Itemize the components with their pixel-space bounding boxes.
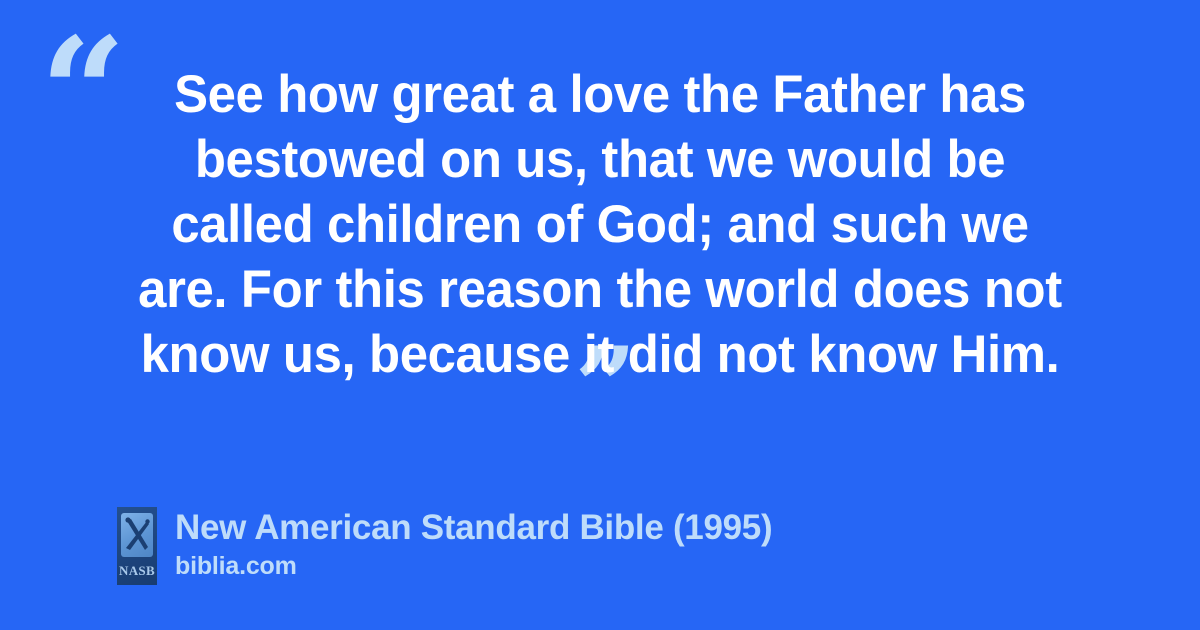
site-url[interactable]: biblia.com xyxy=(175,551,772,581)
quote-text: See how great a love the Father has best… xyxy=(120,62,1080,387)
attribution-text: New American Standard Bible (1995) bibli… xyxy=(175,507,772,581)
nasb-logo-icon: NASB xyxy=(117,507,157,585)
logo-wordmark: NASB xyxy=(117,563,157,579)
logo-cross-glyph xyxy=(121,513,153,557)
attribution: NASB New American Standard Bible (1995) … xyxy=(117,507,772,585)
logo-inner-plate xyxy=(121,513,153,557)
quote-block: See how great a love the Father has best… xyxy=(100,62,1100,411)
quote-card: “ See how great a love the Father has be… xyxy=(0,0,1200,630)
source-name: New American Standard Bible (1995) xyxy=(175,507,772,549)
